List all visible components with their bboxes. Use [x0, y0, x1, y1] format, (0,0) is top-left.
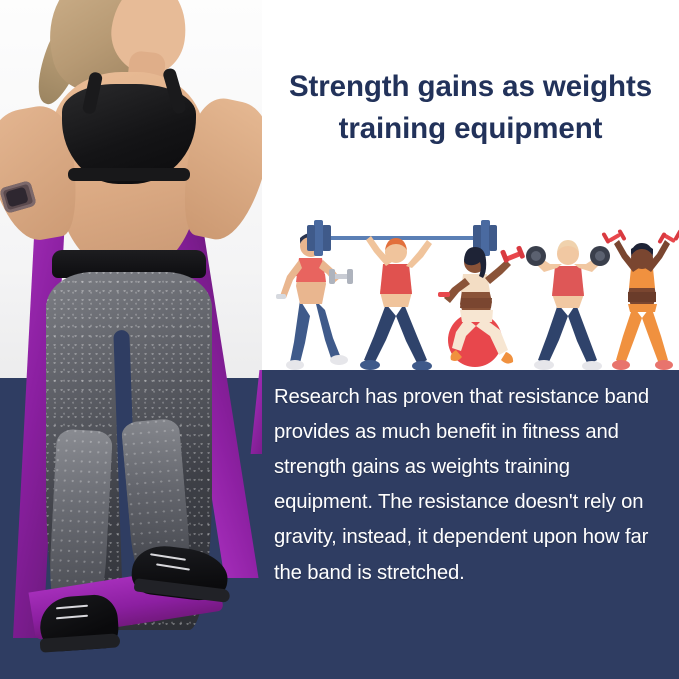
exercise-figures-illustration — [270, 212, 679, 374]
description-panel: Research has proven that resistance band… — [262, 370, 679, 679]
page-title: Strength gains as weights training equip… — [262, 66, 679, 150]
product-photo — [0, 0, 262, 679]
infographic-page: Strength gains as weights training equip… — [0, 0, 679, 679]
model-bra-underband — [68, 168, 190, 181]
description-text: Research has proven that resistance band… — [274, 380, 669, 591]
